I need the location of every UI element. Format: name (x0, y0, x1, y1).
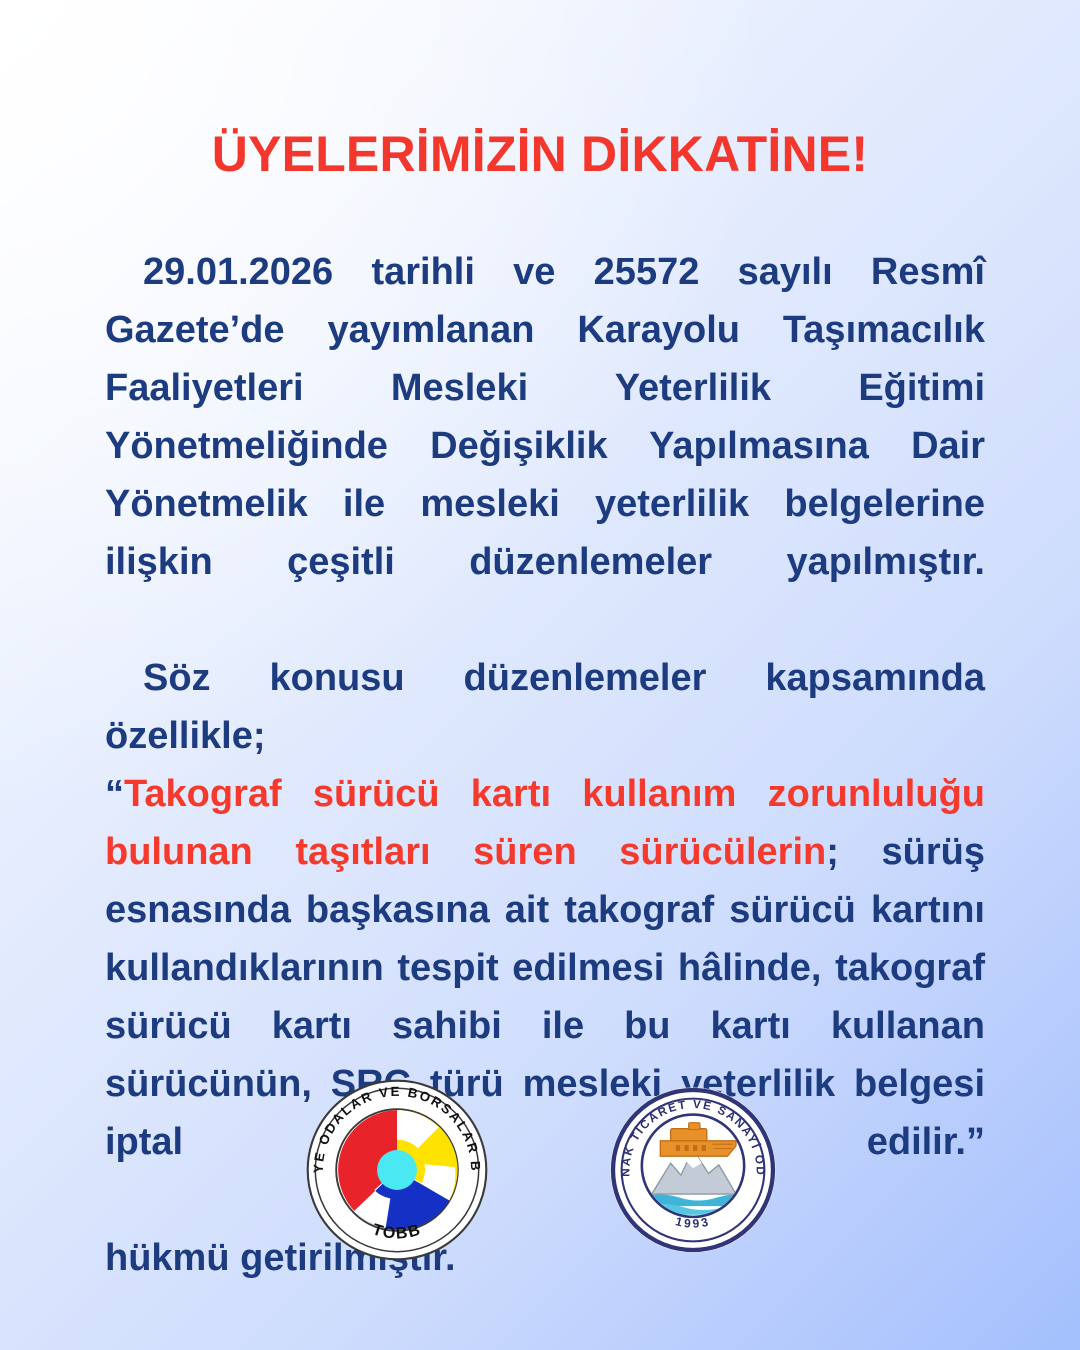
logo-row: TÜRKİYE ODALAR VE BORSALAR BİRLİĞİ TOBB (0, 1070, 1080, 1270)
poster-canvas: ÜYELERİMİZİN DİKKATİNE! 29.01.2026 tarih… (0, 0, 1080, 1350)
page-title: ÜYELERİMİZİN DİKKATİNE! (0, 128, 1080, 181)
tobb-logo: TÜRKİYE ODALAR VE BORSALAR BİRLİĞİ TOBB (302, 1075, 492, 1265)
sirnak-ark-cabin-top (688, 1123, 699, 1130)
tobb-pinwheel (338, 1110, 457, 1230)
paragraph-1-run-1: 29.01.2026 tarihli ve 25572 sayılı Resmî… (105, 251, 985, 583)
sirnak-chamber-logo: ŞIRNAK TİCARET VE SANAYİ ODASI 1993 (607, 1084, 779, 1256)
opening-quote-mark: “ (105, 773, 124, 815)
paragraph-2: Söz konusu düzenlemeler kapsamında özell… (105, 649, 985, 765)
sirnak-ark-cabin (670, 1129, 706, 1141)
sirnak-logo-graphic: ŞIRNAK TİCARET VE SANAYİ ODASI 1993 (607, 1084, 779, 1256)
paragraph-1: 29.01.2026 tarihli ve 25572 sayılı Resmî… (105, 243, 985, 649)
tobb-center-hub (377, 1150, 417, 1190)
paragraph-2-run-1: Söz konusu düzenlemeler kapsamında özell… (105, 657, 985, 757)
tobb-logo-graphic: TÜRKİYE ODALAR VE BORSALAR BİRLİĞİ TOBB (302, 1075, 492, 1265)
